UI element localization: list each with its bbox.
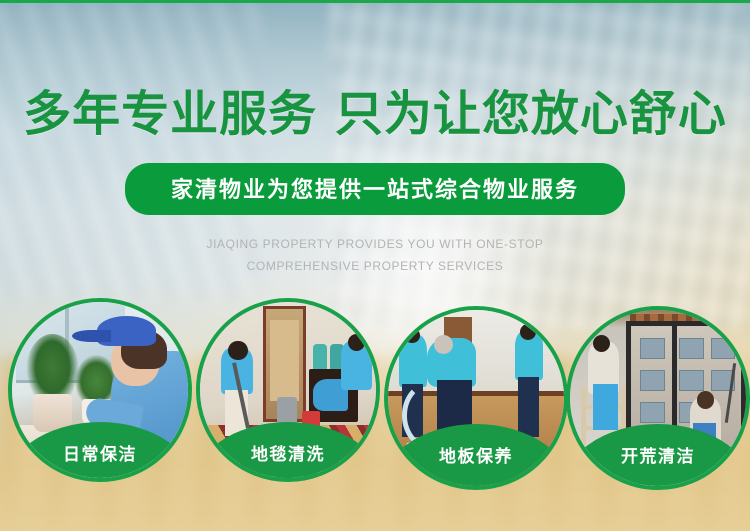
service-circle-daily-cleaning[interactable]: 日常保洁 <box>8 298 192 482</box>
service-circle-floor-maintenance[interactable]: 地板保养 <box>384 306 568 490</box>
banner-content: 多年专业服务 只为让您放心舒心 家清物业为您提供一站式综合物业服务 JIAQIN… <box>0 0 750 531</box>
promo-banner: 多年专业服务 只为让您放心舒心 家清物业为您提供一站式综合物业服务 JIAQIN… <box>0 0 750 531</box>
service-circle-list: 日常保洁 地毯清洗 <box>0 0 750 531</box>
service-circle-carpet-washing[interactable]: 地毯清洗 <box>196 298 380 482</box>
top-accent-strip <box>0 0 750 3</box>
service-circle-post-construction-cleaning[interactable]: 开荒清洁 <box>566 306 750 490</box>
